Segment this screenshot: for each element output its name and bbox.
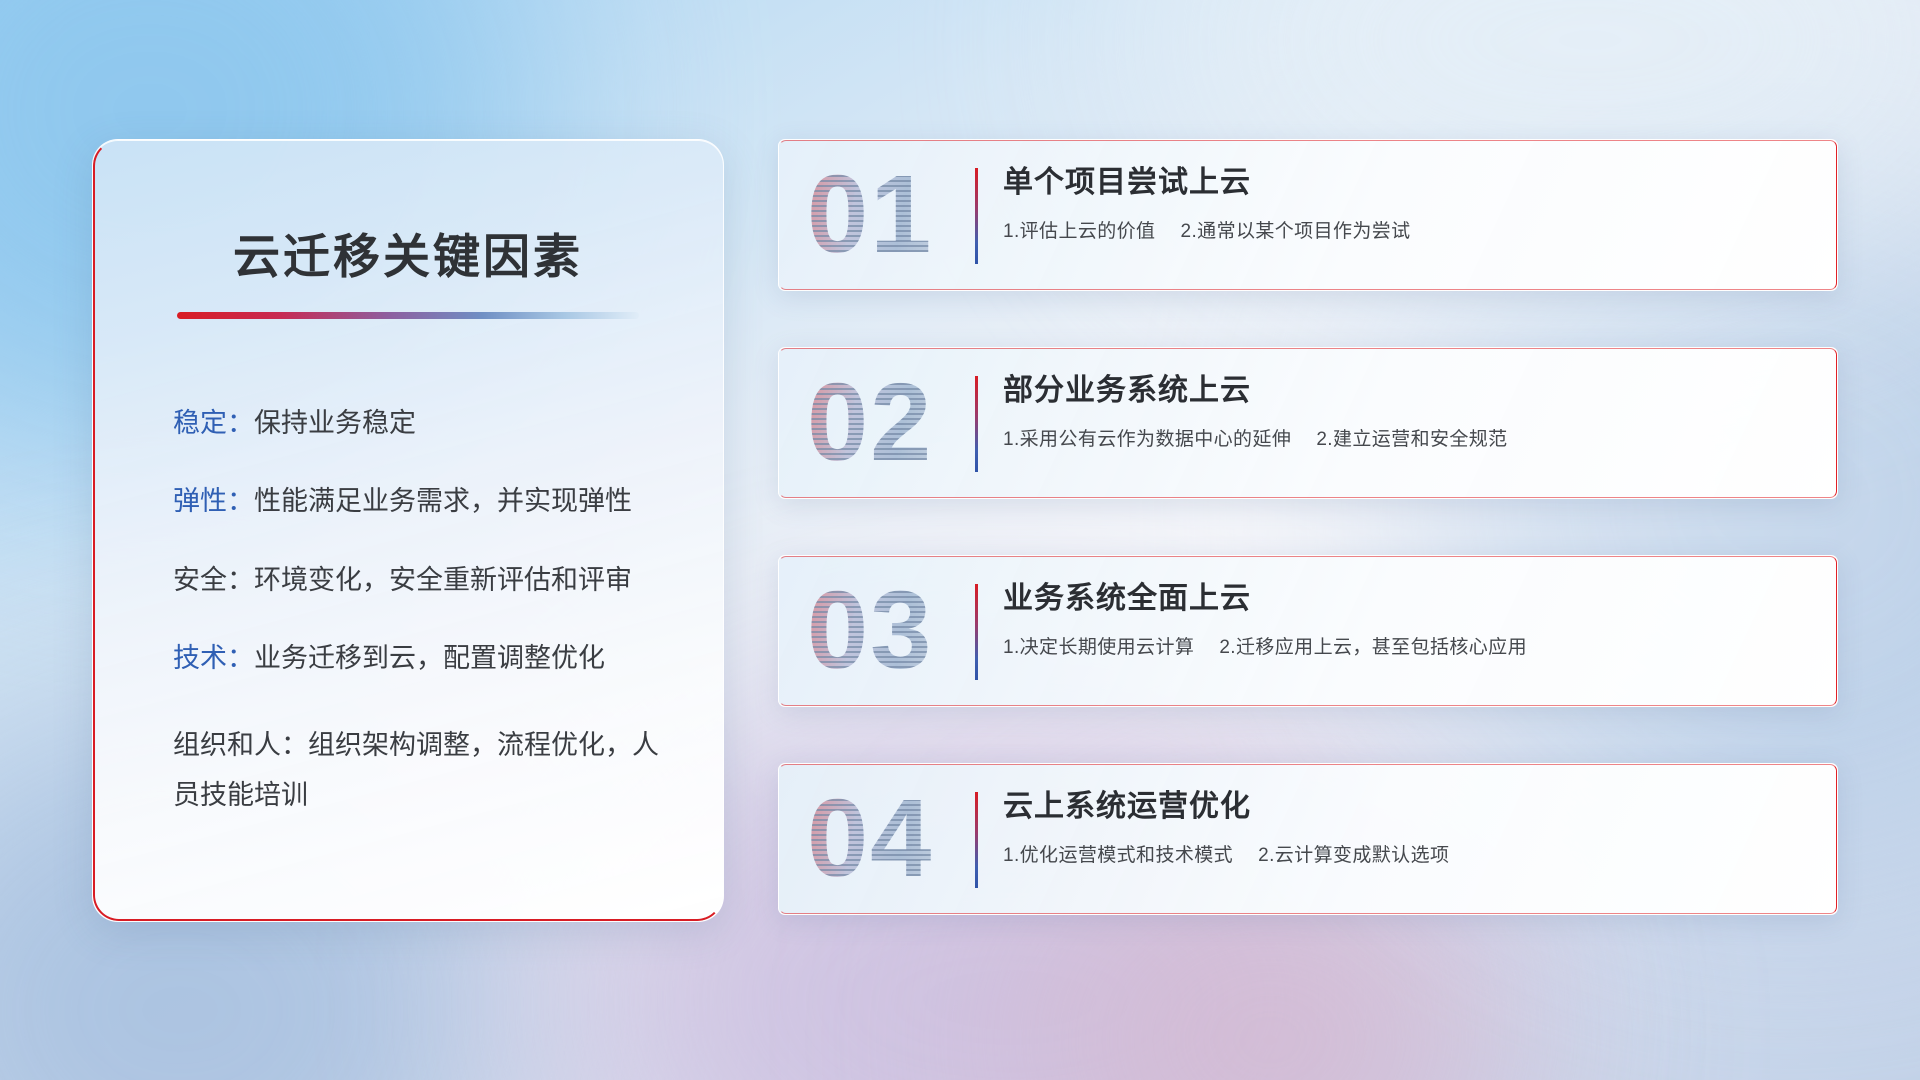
factor-value: 业务迁移到云，配置调整优化 — [254, 643, 605, 673]
factor-item-stability: 稳定：保持业务稳定 — [173, 407, 667, 439]
factor-label: 弹性： — [173, 486, 254, 516]
title-underline-gradient — [177, 312, 639, 319]
factor-label: 安全： — [173, 565, 254, 595]
step-subtitle: 1.优化运营模式和技术模式 2.云计算变成默认选项 — [1003, 840, 1813, 867]
factor-value: 环境变化，安全重新评估和评审 — [254, 565, 632, 595]
factor-label: 稳定： — [173, 408, 254, 438]
factor-label: 技术： — [173, 643, 254, 673]
step-title: 云上系统运营优化 — [1003, 788, 1813, 826]
step-accent-bar — [975, 376, 978, 472]
step-number-watermark: 03 — [807, 576, 933, 686]
step-title: 部分业务系统上云 — [1003, 372, 1813, 410]
step-accent-bar — [975, 584, 978, 680]
factor-value: 性能满足业务需求，并实现弹性 — [254, 486, 632, 516]
step-number-watermark: 02 — [807, 368, 933, 478]
step-title: 业务系统全面上云 — [1003, 580, 1813, 618]
factor-list: 稳定：保持业务稳定 弹性：性能满足业务需求，并实现弹性 安全：环境变化，安全重新… — [149, 407, 667, 820]
step-number-watermark: 04 — [807, 784, 933, 894]
step-card-01[interactable]: 01 单个项目尝试上云 1.评估上云的价值 2.通常以某个项目作为尝试 — [778, 139, 1838, 291]
step-card-03[interactable]: 03 业务系统全面上云 1.决定长期使用云计算 2.迁移应用上云，甚至包括核心应… — [778, 555, 1838, 707]
step-number-watermark: 01 — [807, 160, 933, 270]
step-subtitle: 1.决定长期使用云计算 2.迁移应用上云，甚至包括核心应用 — [1003, 632, 1813, 659]
step-subtitle: 1.评估上云的价值 2.通常以某个项目作为尝试 — [1003, 216, 1813, 243]
key-factors-panel: 云迁移关键因素 稳定：保持业务稳定 弹性：性能满足业务需求，并实现弹性 安全：环… — [92, 139, 724, 922]
factor-item-technology: 技术：业务迁移到云，配置调整优化 — [173, 642, 667, 674]
factor-item-elasticity: 弹性：性能满足业务需求，并实现弹性 — [173, 485, 667, 517]
page-title: 云迁移关键因素 — [149, 218, 667, 287]
step-accent-bar — [975, 168, 978, 264]
step-card-02[interactable]: 02 部分业务系统上云 1.采用公有云作为数据中心的延伸 2.建立运营和安全规范 — [778, 347, 1838, 499]
step-title: 单个项目尝试上云 — [1003, 164, 1813, 202]
factor-item-organization-people: 组织和人：组织架构调整，流程优化，人员技能培训 — [173, 721, 667, 821]
factor-item-security: 安全：环境变化，安全重新评估和评审 — [173, 564, 667, 596]
step-subtitle: 1.采用公有云作为数据中心的延伸 2.建立运营和安全规范 — [1003, 424, 1813, 451]
factor-value: 保持业务稳定 — [254, 408, 416, 438]
step-accent-bar — [975, 792, 978, 888]
migration-steps-list: 01 单个项目尝试上云 1.评估上云的价值 2.通常以某个项目作为尝试 02 部… — [778, 139, 1838, 915]
step-card-04[interactable]: 04 云上系统运营优化 1.优化运营模式和技术模式 2.云计算变成默认选项 — [778, 763, 1838, 915]
factor-label: 组织和人： — [173, 730, 308, 760]
